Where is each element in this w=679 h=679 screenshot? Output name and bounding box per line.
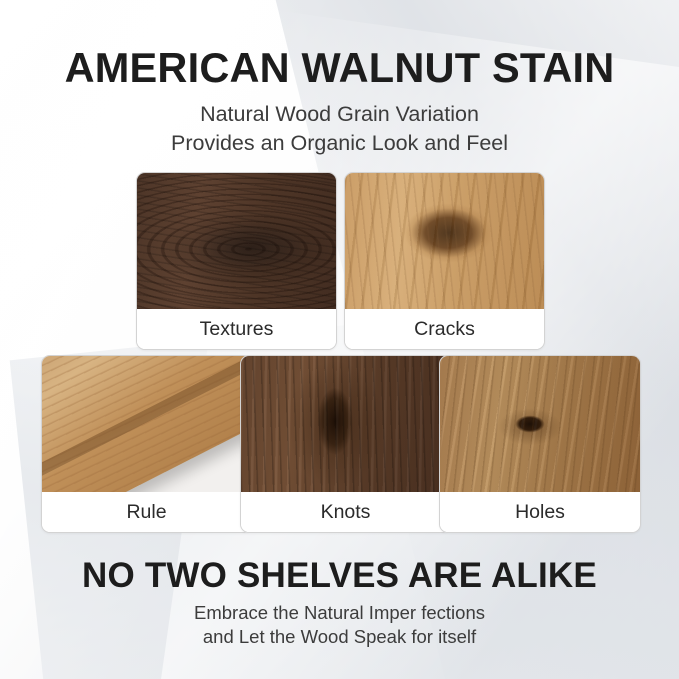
wood-photo-textures (137, 173, 336, 309)
promo-image: AMERICAN WALNUT STAIN Natural Wood Grain… (0, 0, 679, 679)
feature-card-rule: Rule (41, 355, 252, 533)
feature-card-holes: Holes (439, 355, 641, 533)
wood-photo-rule (42, 356, 251, 492)
footer-subheadline-line-1: Embrace the Natural Imper fections (194, 602, 485, 623)
wood-texture-swatch (241, 356, 450, 492)
main-subheadline-line-1: Natural Wood Grain Variation (200, 102, 479, 126)
footer-headline: NO TWO SHELVES ARE ALIKE (0, 556, 679, 596)
wood-texture-swatch (137, 173, 336, 309)
feature-card-textures: Textures (136, 172, 337, 350)
wood-texture-swatch (42, 356, 251, 492)
footer-subheadline-line-2: and Let the Wood Speak for itself (0, 625, 679, 649)
card-caption-holes: Holes (440, 493, 640, 532)
main-subheadline: Natural Wood Grain Variation Provides an… (0, 100, 679, 157)
card-caption-textures: Textures (137, 310, 336, 349)
wood-texture-swatch (440, 356, 640, 492)
wood-photo-cracks (345, 173, 544, 309)
wood-texture-swatch (345, 173, 544, 309)
main-subheadline-line-2: Provides an Organic Look and Feel (0, 129, 679, 158)
card-caption-rule: Rule (42, 493, 251, 532)
main-headline: AMERICAN WALNUT STAIN (0, 46, 679, 90)
feature-card-knots: Knots (240, 355, 451, 533)
card-caption-knots: Knots (241, 493, 450, 532)
card-caption-cracks: Cracks (345, 310, 544, 349)
wood-photo-holes (440, 356, 640, 492)
footer-subheadline: Embrace the Natural Imper fections and L… (0, 601, 679, 650)
wood-photo-knots (241, 356, 450, 492)
feature-card-cracks: Cracks (344, 172, 545, 350)
